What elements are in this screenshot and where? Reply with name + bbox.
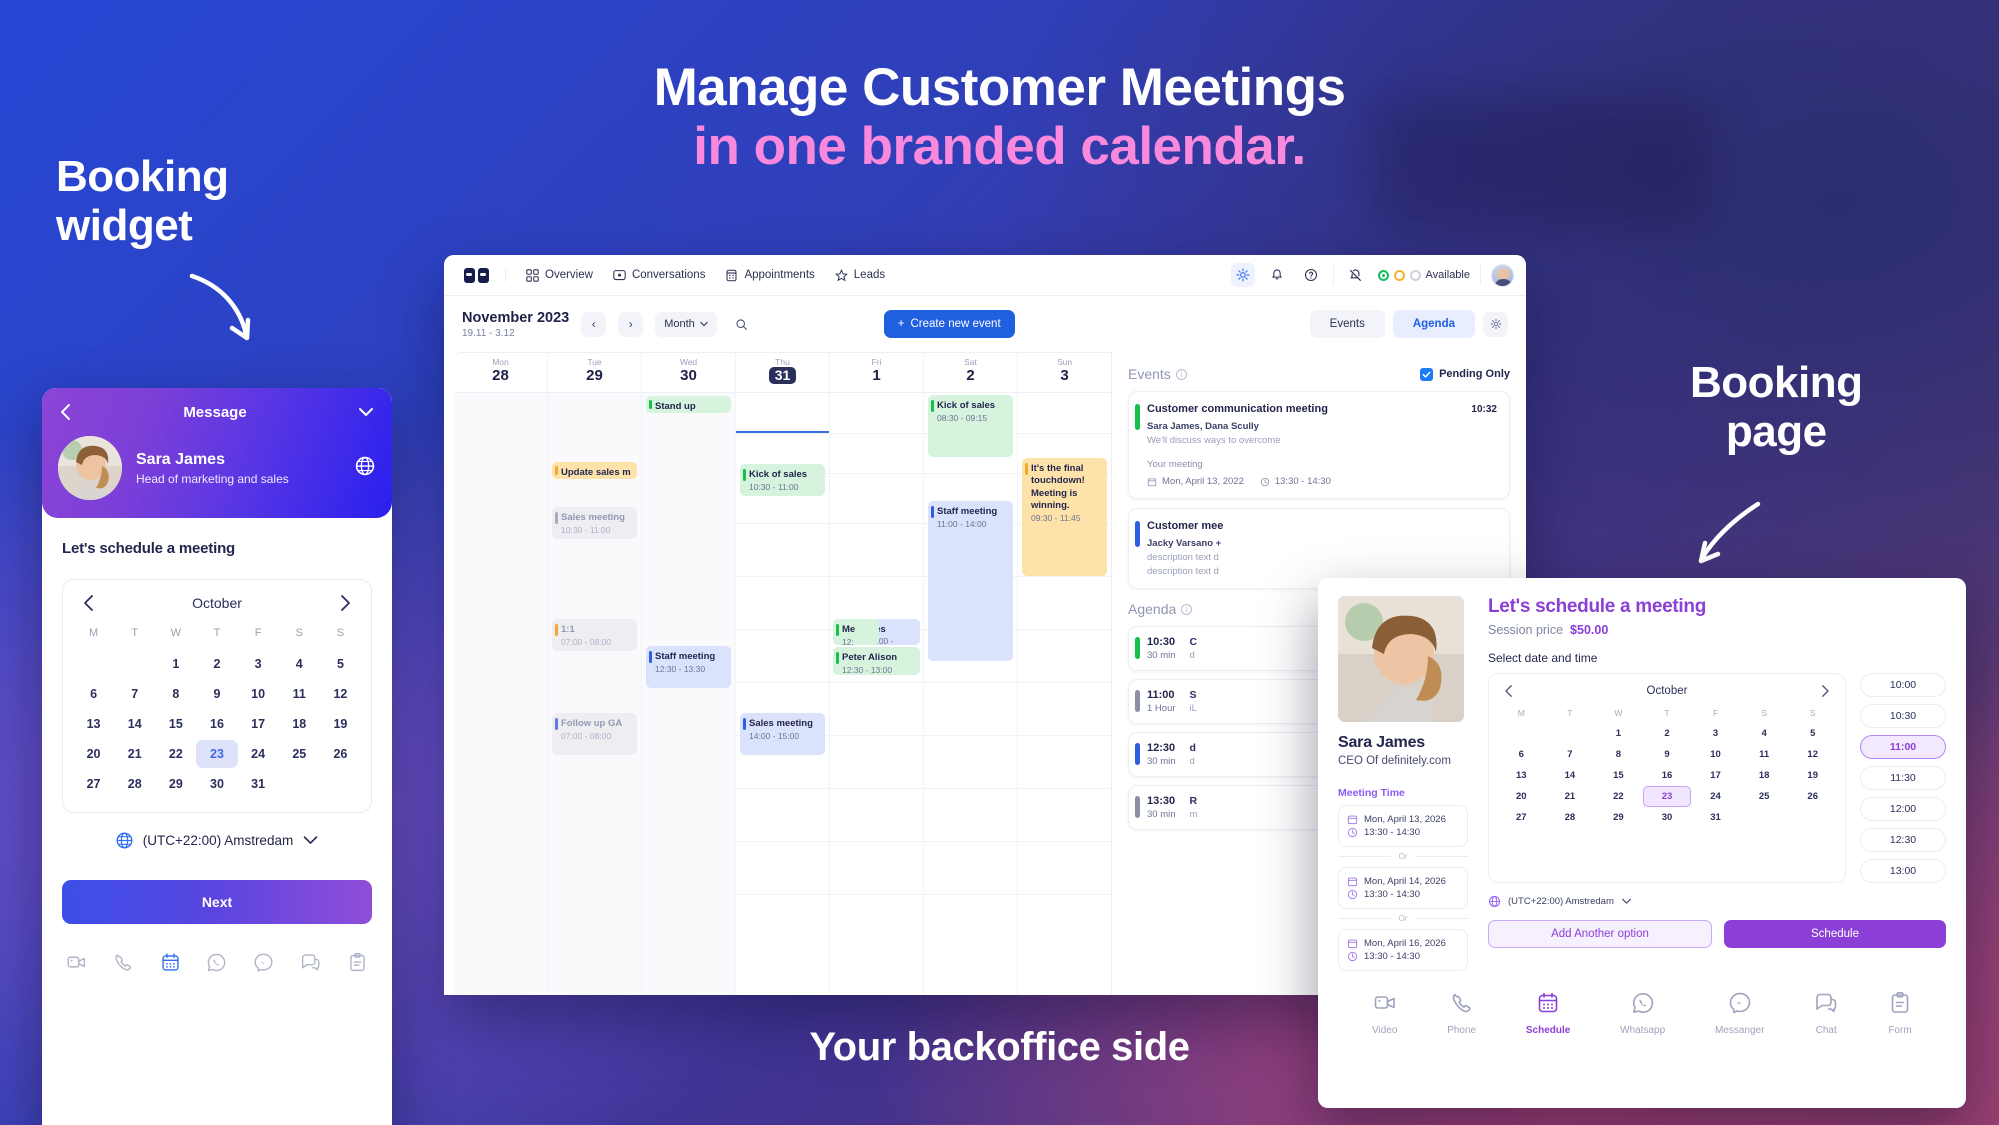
next-month-button[interactable] (337, 594, 353, 612)
calendar-event[interactable]: Sales meeting 10:30 - 11:00 (552, 507, 637, 539)
bell-off-icon (1348, 268, 1363, 283)
info-icon[interactable]: i (1181, 604, 1192, 615)
agenda-time-block: 11:00 1 Hour (1147, 689, 1176, 714)
chat-icon (613, 269, 626, 282)
whatsapp-icon (1631, 991, 1655, 1015)
nav-item-overview[interactable]: Overview (526, 269, 593, 282)
timezone-label: (UTC+22:00) Amstredam (143, 833, 293, 848)
meeting-option-date: Mon, April 13, 2026 (1347, 814, 1459, 825)
day-header-wed[interactable]: Wed 30 (642, 353, 736, 392)
calendar-event[interactable]: Sales meeting 14:00 - 15:00 (740, 713, 825, 755)
calendar-column-tue[interactable]: Update sales m Sales meeting 10:30 - 11:… (548, 393, 642, 995)
agenda-title: d (1190, 742, 1196, 754)
event-card-slot: 13:30 - 14:30 (1260, 476, 1331, 487)
calendar-event[interactable]: Staff meeting 11:00 - 14:00 (928, 501, 1013, 661)
event-color-bar (1135, 404, 1140, 430)
dow-label: S (279, 622, 320, 648)
calendar-event[interactable]: Me 12: (833, 619, 879, 645)
dow-label: F (1691, 704, 1740, 723)
view-tabs: Events Agenda (1310, 310, 1508, 338)
channel-phone[interactable]: Phone (1447, 991, 1476, 1036)
channel-label: Messanger (1715, 1025, 1764, 1036)
event-time: 07:00 - 08:00 (561, 731, 631, 742)
page-calendar-month: October (1515, 685, 1819, 697)
calendar-day[interactable]: 19 (1788, 765, 1837, 786)
language-globe-button[interactable] (354, 455, 376, 482)
calendar-event-grid[interactable]: Update sales m Sales meeting 10:30 - 11:… (454, 393, 1111, 995)
day-number: 1 (830, 367, 923, 385)
agenda-duration: 30 min (1147, 809, 1176, 820)
day-dow: Thu (736, 357, 829, 367)
notifications-button[interactable] (1265, 263, 1289, 287)
day-number: 30 (642, 367, 735, 385)
booking-page-title: Let's schedule a meeting (1488, 596, 1946, 618)
calendar-day[interactable]: 14 (1546, 765, 1595, 786)
dow-label: S (1740, 704, 1789, 723)
messenger-icon[interactable] (253, 952, 274, 978)
nav-item-leads[interactable]: Leads (835, 269, 885, 282)
time-slot[interactable]: 10:30 (1860, 704, 1946, 728)
calendar-column-wed[interactable]: Stand up Staff meeting 12:30 - 13:30 (642, 393, 736, 995)
event-card-title: Customer communication meeting (1147, 403, 1328, 415)
or-label: Or (1399, 914, 1408, 923)
bell-icon (1270, 268, 1284, 282)
topbar-divider-2 (1480, 265, 1481, 285)
agenda-duration: 1 Hour (1147, 703, 1176, 714)
day-number: 28 (454, 367, 547, 385)
calendar-event[interactable]: Update sales m (552, 462, 637, 479)
option-slot-text: 13:30 - 14:30 (1364, 889, 1420, 900)
or-label: Or (1399, 852, 1408, 861)
mute-button[interactable] (1344, 263, 1368, 287)
calendar-column-fri[interactable]: Me 12: Sales 12:00 - 12:30 Peter Alison … (830, 393, 924, 995)
day-dow: Mon (454, 357, 547, 367)
day-header-fri[interactable]: Fri 1 (830, 353, 924, 392)
top-navigation: Overview Conversations Appointments (505, 269, 885, 282)
nav-item-conversations[interactable]: Conversations (613, 269, 706, 282)
agenda-color-bar (1135, 637, 1140, 659)
nav-label-overview: Overview (545, 269, 593, 281)
question-icon (1304, 268, 1318, 282)
event-time: 11:00 - 14:00 (937, 519, 1007, 530)
time-slot[interactable]: 12:30 (1860, 828, 1946, 852)
user-avatar[interactable] (1491, 264, 1514, 287)
whatsapp-icon[interactable] (206, 952, 227, 978)
month-title: November 2023 (462, 309, 569, 327)
event-time: 12:30 - 13:30 (655, 664, 725, 675)
chevron-down-icon (700, 320, 708, 328)
calendar-day[interactable]: 26 (320, 740, 361, 768)
calendar-event[interactable]: Kick of sales 10:30 - 11:00 (740, 464, 825, 496)
calendar-day[interactable]: 10 (1691, 744, 1740, 765)
calendar-day (1788, 807, 1837, 828)
week-calendar: Mon 28 Tue 29 Wed 30 Thu 31 Fri 1 (454, 352, 1112, 995)
app-topbar: Overview Conversations Appointments (444, 255, 1526, 296)
event-time: 14:00 - 15:00 (749, 731, 819, 742)
channel-form[interactable]: Form (1888, 991, 1912, 1036)
person-subtitle: CEO Of definitely.com (1338, 755, 1468, 767)
prev-month-button[interactable] (1503, 684, 1515, 698)
pending-only-toggle[interactable]: Pending Only (1420, 368, 1510, 381)
event-card[interactable]: Customer communication meeting 10:32 Sar… (1128, 391, 1510, 499)
calendar-day[interactable]: 20 (73, 740, 114, 768)
calendar-day[interactable]: 6 (73, 680, 114, 708)
calendar-column-thu[interactable]: Kick of sales 10:30 - 11:00 Sales meetin… (736, 393, 830, 995)
day-dow: Tue (548, 357, 641, 367)
page-calendar: October M T W T F S S 1 2 (1488, 673, 1846, 883)
calendar-day[interactable]: 22 (1594, 786, 1643, 807)
widget-header-bar: Message (58, 402, 376, 422)
calendar-day[interactable]: 17 (238, 710, 279, 738)
meeting-option-date: Mon, April 14, 2026 (1347, 876, 1459, 887)
calendar-column-mon[interactable] (454, 393, 548, 995)
agenda-title: R (1190, 795, 1198, 807)
agenda-time: 13:30 (1147, 795, 1176, 807)
calendar-day[interactable]: 2 (196, 650, 237, 678)
day-header-mon[interactable]: Mon 28 (454, 353, 548, 392)
time-slot[interactable]: 12:00 (1860, 797, 1946, 821)
checkbox-icon (1420, 368, 1433, 381)
time-slot[interactable]: 11:30 (1860, 766, 1946, 790)
clock-icon (1347, 827, 1358, 838)
calendar-day[interactable]: 6 (1497, 744, 1546, 765)
person-role: Head of marketing and sales (136, 472, 289, 486)
clock-icon (1347, 951, 1358, 962)
calendar-day (73, 650, 114, 678)
timezone-selector[interactable]: (UTC+22:00) Amstredam (1488, 895, 1946, 908)
time-slot[interactable]: 10:00 (1860, 673, 1946, 697)
booking-actions: Add Another option Schedule (1488, 920, 1946, 948)
calendar-event[interactable]: Follow up GA 07:00 - 08:00 (552, 713, 637, 755)
search-button[interactable] (729, 312, 754, 337)
calendar-day (320, 770, 361, 798)
events-panel-header: Events i Pending Only (1128, 366, 1510, 382)
channel-video[interactable]: Video (1372, 991, 1397, 1036)
prev-month-button[interactable] (81, 594, 97, 612)
calendar-day[interactable]: 24 (1691, 786, 1740, 807)
nav-label-appointments: Appointments (744, 269, 814, 281)
meeting-option[interactable]: Mon, April 16, 2026 13:30 - 14:30 (1338, 929, 1468, 971)
calendar-day[interactable]: 15 (155, 710, 196, 738)
calendar-day[interactable]: 29 (155, 770, 196, 798)
calendar-day[interactable]: 29 (1594, 807, 1643, 828)
video-icon (1373, 991, 1397, 1015)
calendar-day[interactable]: 1 (155, 650, 196, 678)
calendar-event[interactable]: Kick of sales 08:30 - 09:15 (928, 395, 1013, 457)
calendar-day[interactable]: 21 (114, 740, 155, 768)
calendar-day[interactable]: 28 (114, 770, 155, 798)
calendar-day[interactable]: 7 (114, 680, 155, 708)
calendar-icon (1347, 876, 1358, 887)
chevron-down-icon (1621, 897, 1632, 906)
event-card-header: Customer communication meeting 10:32 (1147, 403, 1497, 415)
form-icon[interactable] (347, 952, 368, 978)
meeting-time-label: Meeting Time (1338, 787, 1468, 799)
page-headline: Manage Customer Meetings in one branded … (0, 58, 1999, 177)
calendar-day[interactable]: 5 (1788, 723, 1837, 744)
widget-channel-bar (42, 924, 392, 978)
calendar-day[interactable]: 21 (1546, 786, 1595, 807)
calendar-day[interactable]: 8 (1594, 744, 1643, 765)
event-card-meta: Mon, April 13, 2022 13:30 - 14:30 (1147, 476, 1497, 487)
day-number: 29 (548, 367, 641, 385)
time-slot-selected[interactable]: 11:00 (1860, 735, 1946, 759)
agenda-duration: 30 min (1147, 650, 1176, 661)
event-card-time: 10:32 (1471, 404, 1497, 415)
meeting-option[interactable]: Mon, April 13, 2026 13:30 - 14:30 (1338, 805, 1468, 847)
create-new-event-button[interactable]: + Create new event (884, 310, 1015, 338)
calendar-day[interactable]: 14 (114, 710, 155, 738)
calendar-settings-button[interactable] (1483, 312, 1508, 337)
dow-label: S (320, 622, 361, 648)
dow-label: T (114, 622, 155, 648)
calendar-event[interactable]: Peter Alison 12:30 - 13:00 (833, 647, 920, 675)
or-divider: Or (1338, 852, 1468, 861)
calendar-event[interactable]: Staff meeting 12:30 - 13:30 (646, 646, 731, 688)
headline-line-1: Manage Customer Meetings (0, 58, 1999, 117)
calendar-day (114, 650, 155, 678)
gear-icon (1490, 318, 1502, 330)
calendar-day[interactable]: 12 (320, 680, 361, 708)
page-calendar-grid[interactable]: M T W T F S S 1 2 3 4 5 6 (1497, 704, 1837, 828)
agenda-text-block: C d (1190, 636, 1198, 661)
calendar-day[interactable]: 31 (238, 770, 279, 798)
calendar-day[interactable]: 3 (1691, 723, 1740, 744)
channel-whatsapp[interactable]: Whatsapp (1620, 991, 1665, 1036)
event-title: Me (842, 624, 873, 636)
calendar-day[interactable]: 3 (238, 650, 279, 678)
calendar-day[interactable]: 12 (1788, 744, 1837, 765)
calendar-day[interactable]: 20 (1497, 786, 1546, 807)
calendar-day[interactable]: 13 (1497, 765, 1546, 786)
meeting-option-slot: 13:30 - 14:30 (1347, 889, 1459, 900)
channel-chat[interactable]: Chat (1814, 991, 1838, 1036)
next-button[interactable]: Next (62, 880, 372, 924)
calendar-icon (1347, 814, 1358, 825)
dow-label: W (155, 622, 196, 648)
tab-agenda[interactable]: Agenda (1393, 310, 1475, 338)
event-title: Follow up GA (561, 718, 631, 730)
dow-label: W (1594, 704, 1643, 723)
option-date-text: Mon, April 14, 2026 (1364, 876, 1446, 887)
day-dow: Fri (830, 357, 923, 367)
calendar-day[interactable]: 16 (1643, 765, 1692, 786)
widget-calendar-grid[interactable]: M T W T F S S 1 2 3 4 5 6 7 8 9 10 11 (73, 622, 361, 798)
calendar-day[interactable]: 8 (155, 680, 196, 708)
calendar-day[interactable]: 15 (1594, 765, 1643, 786)
calendar-day[interactable]: 27 (1497, 807, 1546, 828)
calendar-icon[interactable] (160, 952, 181, 978)
agenda-color-bar (1135, 690, 1140, 712)
event-card-title: Customer mee (1147, 520, 1223, 532)
booking-page-channel-bar: Video Phone Schedule Whatsapp Messanger … (1338, 971, 1946, 1036)
widget-person-info: Sara James Head of marketing and sales (136, 451, 289, 486)
event-date-text: Mon, April 13, 2022 (1162, 476, 1244, 487)
agenda-time: 11:00 (1147, 689, 1176, 701)
day-header-sat[interactable]: Sat 2 (924, 353, 1018, 392)
calendar-column-sat[interactable]: Kick of sales 08:30 - 09:15 Staff meetin… (924, 393, 1018, 995)
calendar-day[interactable]: 2 (1643, 723, 1692, 744)
calendar-day-selected[interactable]: 23 (196, 740, 237, 768)
calendar-day[interactable]: 4 (1740, 723, 1789, 744)
calendar-day[interactable]: 18 (279, 710, 320, 738)
calendar-day[interactable]: 24 (238, 740, 279, 768)
video-icon[interactable] (66, 952, 87, 978)
calendar-day[interactable]: 16 (196, 710, 237, 738)
calendar-day[interactable]: 25 (279, 740, 320, 768)
chevron-down-icon (302, 834, 319, 847)
event-card-date: Mon, April 13, 2022 (1147, 476, 1244, 487)
agenda-time-block: 12:30 30 min (1147, 742, 1176, 767)
event-time: 10:30 - 11:00 (561, 525, 631, 536)
calendar-day[interactable]: 28 (1546, 807, 1595, 828)
info-icon[interactable]: i (1176, 369, 1187, 380)
option-date-text: Mon, April 13, 2026 (1364, 814, 1446, 825)
channel-label: Video (1372, 1025, 1397, 1036)
timezone-label: (UTC+22:00) Amstredam (1508, 896, 1614, 907)
event-card[interactable]: Customer mee Jacky Varsano + description… (1128, 508, 1510, 589)
event-card-header: Customer mee (1147, 520, 1497, 532)
calendar-day[interactable]: 25 (1740, 786, 1789, 807)
globe-icon (1488, 895, 1501, 908)
month-heading: November 2023 19.11 - 3.12 (462, 309, 569, 338)
dow-label: S (1788, 704, 1837, 723)
calendar-day[interactable]: 31 (1691, 807, 1740, 828)
calendar-event[interactable]: It's the final touchdown! Meeting is win… (1022, 458, 1107, 576)
add-another-option-button[interactable]: Add Another option (1488, 920, 1712, 948)
dow-label: M (1497, 704, 1546, 723)
chat-icon[interactable] (300, 952, 321, 978)
event-time: 07:00 - 08:00 (561, 637, 631, 648)
day-header-thu-today[interactable]: Thu 31 (736, 353, 830, 392)
meeting-option-date: Mon, April 16, 2026 (1347, 938, 1459, 949)
calendar-day[interactable]: 9 (196, 680, 237, 708)
calendar-day[interactable]: 17 (1691, 765, 1740, 786)
widget-header: Message Sara James Head of marketing and… (42, 388, 392, 518)
timezone-selector[interactable]: (UTC+22:00) Amstredam (62, 831, 372, 850)
event-title: Staff meeting (655, 651, 725, 663)
calendar-day[interactable]: 26 (1788, 786, 1837, 807)
calendar-day[interactable]: 1 (1594, 723, 1643, 744)
schedule-button[interactable]: Schedule (1724, 920, 1946, 948)
arrow-to-page-icon (1692, 500, 1766, 568)
booking-page-right: Let's schedule a meeting Session price$5… (1488, 596, 1946, 971)
headline-line-2: in one branded calendar. (0, 117, 1999, 176)
next-period-button[interactable]: › (618, 312, 643, 337)
star-icon (835, 269, 848, 282)
agenda-text-block: R m (1190, 795, 1198, 820)
gear-icon (1236, 268, 1250, 282)
calendar-day[interactable]: 27 (73, 770, 114, 798)
calendar-day[interactable]: 19 (320, 710, 361, 738)
calendar-day[interactable]: 10 (238, 680, 279, 708)
status-dot-grey (1410, 270, 1421, 281)
status-dot-green (1378, 270, 1389, 281)
nav-item-appointments[interactable]: Appointments (725, 269, 814, 282)
event-title: Kick of sales (937, 400, 1007, 412)
calendar-day[interactable]: 18 (1740, 765, 1789, 786)
clock-icon (1347, 889, 1358, 900)
calendar-column-sun[interactable]: It's the final touchdown! Meeting is win… (1018, 393, 1111, 995)
calendar-day-selected[interactable]: 23 (1643, 786, 1692, 807)
booking-widget: Message Sara James Head of marketing and… (42, 388, 392, 1125)
channel-label: Whatsapp (1620, 1025, 1665, 1036)
day-number: 3 (1018, 367, 1111, 385)
messenger-icon (1728, 991, 1752, 1015)
channel-messenger[interactable]: Messanger (1715, 991, 1764, 1036)
calendar-day[interactable]: 7 (1546, 744, 1595, 765)
prev-period-button[interactable]: ‹ (581, 312, 606, 337)
settings-button[interactable] (1231, 263, 1255, 287)
event-card-description: We'll discuss ways to overcome (1147, 435, 1497, 446)
event-card-people: Sara James, Dana Scully (1147, 421, 1497, 432)
meeting-option[interactable]: Mon, April 14, 2026 13:30 - 14:30 (1338, 867, 1468, 909)
widget-calendar-month: October (97, 595, 337, 611)
calendar-day[interactable]: 13 (73, 710, 114, 738)
event-title: Peter Alison (842, 652, 914, 664)
phone-icon[interactable] (113, 952, 134, 978)
view-selector[interactable]: Month (655, 312, 717, 337)
app-logo-icon[interactable] (464, 268, 489, 283)
globe-icon (354, 455, 376, 477)
day-dow: Wed (642, 357, 735, 367)
event-card-description: description text d (1147, 552, 1497, 563)
calendar-day[interactable]: 11 (1740, 744, 1789, 765)
event-color-bar (1135, 521, 1140, 547)
status-label: Available (1426, 269, 1470, 281)
event-title: Sales meeting (561, 512, 631, 524)
booking-page: Sara James CEO Of definitely.com Meeting… (1318, 578, 1966, 1108)
channel-schedule[interactable]: Schedule (1526, 991, 1570, 1036)
meeting-option-slot: 13:30 - 14:30 (1347, 827, 1459, 838)
calendar-day[interactable]: 30 (196, 770, 237, 798)
price-value: $50.00 (1570, 623, 1608, 637)
time-slot[interactable]: 13:00 (1860, 859, 1946, 883)
availability-status[interactable]: Available (1378, 269, 1470, 281)
agenda-desc: m (1190, 809, 1198, 820)
agenda-desc: iL (1190, 703, 1197, 714)
calendar-event[interactable]: 1:1 07:00 - 08:00 (552, 619, 637, 651)
calendar-icon (1536, 991, 1560, 1015)
calendar-day[interactable]: 22 (155, 740, 196, 768)
channel-label: Chat (1814, 1025, 1838, 1036)
next-month-button[interactable] (1819, 684, 1831, 698)
agenda-time: 12:30 (1147, 742, 1176, 754)
time-slot-list: 10:00 10:30 11:00 11:30 12:00 12:30 13:0… (1860, 673, 1946, 883)
dow-label: T (1546, 704, 1595, 723)
agenda-text-block: d d (1190, 742, 1196, 767)
calendar-day[interactable]: 9 (1643, 744, 1692, 765)
dow-label: M (73, 622, 114, 648)
back-icon[interactable] (58, 402, 74, 422)
tab-events[interactable]: Events (1310, 310, 1385, 338)
event-card-description-2: description text d (1147, 566, 1497, 577)
help-button[interactable] (1299, 263, 1323, 287)
avatar (1338, 596, 1464, 722)
calendar-event[interactable]: Stand up (646, 396, 731, 413)
calendar-day[interactable]: 5 (320, 650, 361, 678)
event-card-people: Jacky Varsano + (1147, 538, 1497, 549)
or-divider: Or (1338, 914, 1468, 923)
agenda-panel-title: Agenda (1128, 601, 1176, 617)
calendar-day[interactable]: 4 (279, 650, 320, 678)
calendar-day[interactable]: 30 (1643, 807, 1692, 828)
chevron-down-icon[interactable] (356, 404, 376, 420)
day-header-sun[interactable]: Sun 3 (1018, 353, 1111, 392)
calendar-day[interactable]: 11 (279, 680, 320, 708)
person-name: Sara James (136, 451, 289, 469)
day-header-tue[interactable]: Tue 29 (548, 353, 642, 392)
